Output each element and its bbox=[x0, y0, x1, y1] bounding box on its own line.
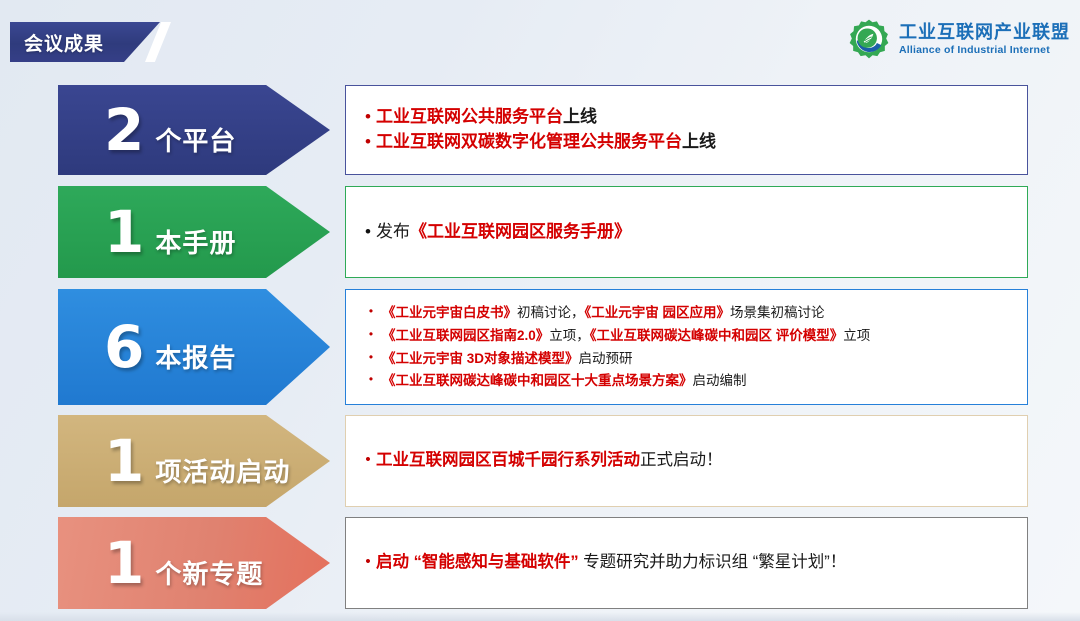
result-row-5: 1 个新专题 • 启动 “智能感知与基础软件” 专题研究并助力标识组 “繁星计划… bbox=[0, 517, 1080, 609]
row-5-number: 1 bbox=[104, 534, 144, 592]
slide-canvas: 会议成果 工业互联网产业联盟 Alliance of Industrial In… bbox=[0, 0, 1080, 621]
row-2-number: 1 bbox=[104, 203, 144, 261]
logo-text: 工业互联网产业联盟 Alliance of Industrial Interne… bbox=[899, 23, 1070, 56]
list-item: • 《工业互联网碳达峰碳中和园区十大重点场景方案》启动编制 bbox=[346, 370, 1027, 393]
bullet-icon: • bbox=[360, 105, 376, 130]
row-3-line-3: 《工业元宇宙 3D对象描述模型》启动预研 bbox=[382, 349, 1013, 369]
header-banner: 会议成果 bbox=[10, 22, 160, 62]
org-logo: 工业互联网产业联盟 Alliance of Industrial Interne… bbox=[847, 17, 1070, 61]
bullet-icon: • bbox=[360, 551, 376, 573]
result-row-2: 1 本手册 • 发布《工业互联网园区服务手册》 bbox=[0, 186, 1080, 278]
row-1-line-1: 工业互联网公共服务平台上线 bbox=[376, 105, 1013, 130]
row-5-label: 个新专题 bbox=[155, 554, 263, 591]
row-5-content-box: • 启动 “智能感知与基础软件” 专题研究并助力标识组 “繁星计划”！ bbox=[345, 517, 1028, 609]
row-4-label: 项活动启动 bbox=[155, 452, 290, 489]
row-3-number: 6 bbox=[104, 318, 144, 376]
row-1-content-box: • 工业互联网公共服务平台上线 • 工业互联网双碳数字化管理公共服务平台上线 bbox=[345, 85, 1028, 175]
row-3-line-2: 《工业互联网园区指南2.0》立项，《工业互联网碳达峰碳中和园区 评价模型》立项 bbox=[382, 326, 1013, 346]
bullet-icon: • bbox=[360, 349, 382, 366]
logo-text-cn: 工业互联网产业联盟 bbox=[899, 23, 1070, 41]
row-3-line-1: 《工业元宇宙白皮书》初稿讨论，《工业元宇宙 园区应用》场景集初稿讨论 bbox=[382, 303, 1013, 323]
row-3-line-4: 《工业互联网碳达峰碳中和园区十大重点场景方案》启动编制 bbox=[382, 371, 1013, 391]
row-5-arrow-chevron: 1 个新专题 bbox=[58, 517, 330, 609]
row-4-arrow-chevron: 1 项活动启动 bbox=[58, 415, 330, 507]
list-item: • 发布《工业互联网园区服务手册》 bbox=[346, 220, 1027, 245]
list-item: • 《工业互联网园区指南2.0》立项，《工业互联网碳达峰碳中和园区 评价模型》立… bbox=[346, 324, 1027, 347]
bullet-icon: • bbox=[360, 449, 376, 471]
bullet-icon: • bbox=[360, 220, 376, 245]
row-1-label: 个平台 bbox=[155, 121, 236, 158]
bullet-icon: • bbox=[360, 326, 382, 343]
result-row-1: 2 个平台 • 工业互联网公共服务平台上线 • 工业互联网双碳数字化管理公共服务… bbox=[0, 85, 1080, 175]
row-1-arrow-chevron: 2 个平台 bbox=[58, 85, 330, 175]
row-3-content-box: • 《工业元宇宙白皮书》初稿讨论，《工业元宇宙 园区应用》场景集初稿讨论 • 《… bbox=[345, 289, 1028, 405]
page-title: 会议成果 bbox=[24, 29, 104, 56]
row-2-label: 本手册 bbox=[155, 223, 236, 260]
row-2-content-box: • 发布《工业互联网园区服务手册》 bbox=[345, 186, 1028, 278]
row-4-line-1: 工业互联网园区百城千园行系列活动正式启动！ bbox=[376, 449, 1013, 473]
row-4-number: 1 bbox=[104, 432, 144, 490]
list-item: • 工业互联网公共服务平台上线 bbox=[346, 105, 1027, 130]
row-4-content-box: • 工业互联网园区百城千园行系列活动正式启动！ bbox=[345, 415, 1028, 507]
list-item: • 工业互联网园区百城千园行系列活动正式启动！ bbox=[346, 449, 1027, 473]
list-item: • 工业互联网双碳数字化管理公共服务平台上线 bbox=[346, 130, 1027, 155]
list-item: • 《工业元宇宙 3D对象描述模型》启动预研 bbox=[346, 347, 1027, 370]
row-3-arrow-chevron: 6 本报告 bbox=[58, 289, 330, 405]
bullet-icon: • bbox=[360, 303, 382, 320]
list-item: • 《工业元宇宙白皮书》初稿讨论，《工业元宇宙 园区应用》场景集初稿讨论 bbox=[346, 302, 1027, 325]
list-item: • 启动 “智能感知与基础软件” 专题研究并助力标识组 “繁星计划”！ bbox=[346, 551, 1027, 575]
row-5-line-1: 启动 “智能感知与基础软件” 专题研究并助力标识组 “繁星计划”！ bbox=[376, 551, 1013, 575]
result-row-3: 6 本报告 • 《工业元宇宙白皮书》初稿讨论，《工业元宇宙 园区应用》场景集初稿… bbox=[0, 289, 1080, 405]
row-3-label: 本报告 bbox=[155, 338, 236, 375]
bullet-icon: • bbox=[360, 371, 382, 388]
bullet-icon: • bbox=[360, 130, 376, 155]
gear-leaf-logo-icon bbox=[847, 17, 891, 61]
logo-text-en: Alliance of Industrial Internet bbox=[899, 45, 1070, 56]
row-1-line-2: 工业互联网双碳数字化管理公共服务平台上线 bbox=[376, 130, 1013, 155]
bottom-edge-shadow bbox=[0, 612, 1080, 621]
result-row-4: 1 项活动启动 • 工业互联网园区百城千园行系列活动正式启动！ bbox=[0, 415, 1080, 507]
row-2-line-1: 发布《工业互联网园区服务手册》 bbox=[376, 220, 1013, 245]
row-2-arrow-chevron: 1 本手册 bbox=[58, 186, 330, 278]
row-1-number: 2 bbox=[104, 101, 144, 159]
